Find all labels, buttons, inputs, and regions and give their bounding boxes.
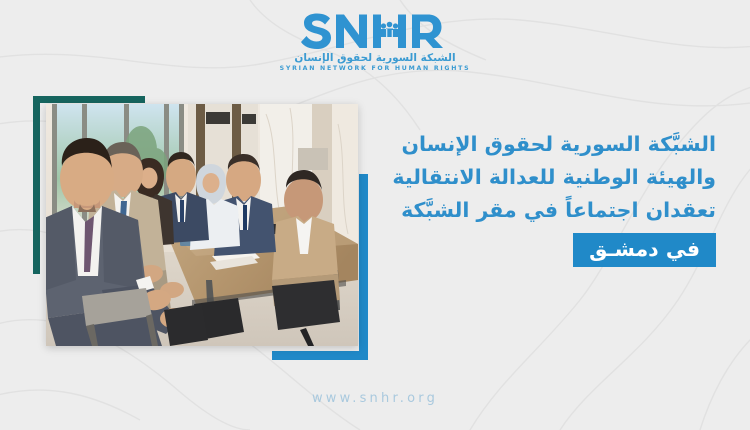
headline-block: الشبَّكة السورية لحقوق الإنسان والهيئة ا… — [336, 128, 716, 267]
logo-block: الشبكة السورية لحقوق الإنسان SYRIAN NETW… — [0, 12, 750, 72]
website-url[interactable]: www.snhr.org — [0, 391, 750, 406]
headline-highlight-line: في دمشـق — [573, 233, 716, 268]
headline-line-1: الشبَّكة السورية لحقوق الإنسان — [336, 128, 716, 161]
headline-line-3: تعقدان اجتماعاً في مقر الشبَّكة — [336, 194, 716, 227]
snhr-wordmark-icon — [300, 12, 450, 52]
logo-arabic-name: الشبكة السورية لحقوق الإنسان — [294, 53, 455, 65]
snhr-social-card: الشبكة السورية لحقوق الإنسان SYRIAN NETW… — [0, 0, 750, 430]
meeting-photo — [46, 104, 358, 346]
headline-line-2: والهيئة الوطنية للعدالة الانتقالية — [336, 161, 716, 194]
logo-english-name: SYRIAN NETWORK FOR HUMAN RIGHTS — [280, 66, 471, 73]
